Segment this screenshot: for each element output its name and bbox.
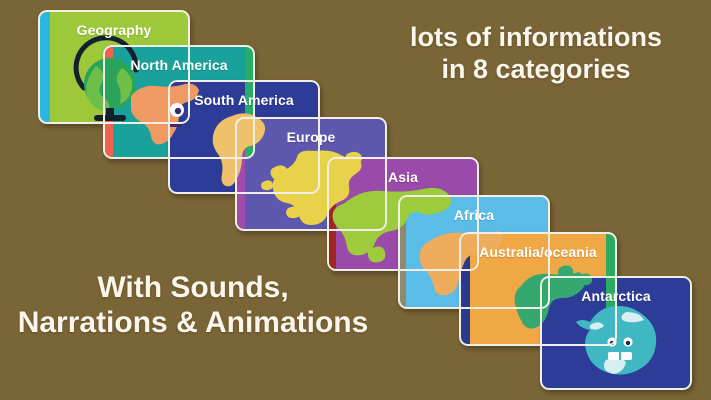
card-geography-title: Geography	[38, 22, 190, 38]
card-australia-oceania-title: Australia/oceania	[459, 244, 617, 260]
card-antarctica-title: Antarctica	[540, 288, 692, 304]
promo-right-line-2: in 8 categories	[372, 54, 700, 86]
card-asia-title: Asia	[327, 169, 479, 185]
promo-right-line-1: lots of informations	[372, 22, 700, 54]
africa-map	[420, 227, 514, 309]
card-africa-title: Africa	[398, 207, 550, 223]
antarctica-map	[570, 302, 670, 390]
card-europe-title: Europe	[235, 129, 387, 145]
promo-left-line-1: With Sounds,	[8, 270, 378, 305]
promo-banner: Geography North America South America	[0, 0, 711, 400]
card-south-america-title: South America	[168, 92, 320, 108]
promo-text-left: With Sounds, Narrations & Animations	[8, 270, 378, 341]
promo-text-right: lots of informations in 8 categories	[372, 22, 700, 86]
card-north-america-title: North America	[103, 57, 255, 73]
promo-left-line-2: Narrations & Animations	[8, 305, 378, 340]
